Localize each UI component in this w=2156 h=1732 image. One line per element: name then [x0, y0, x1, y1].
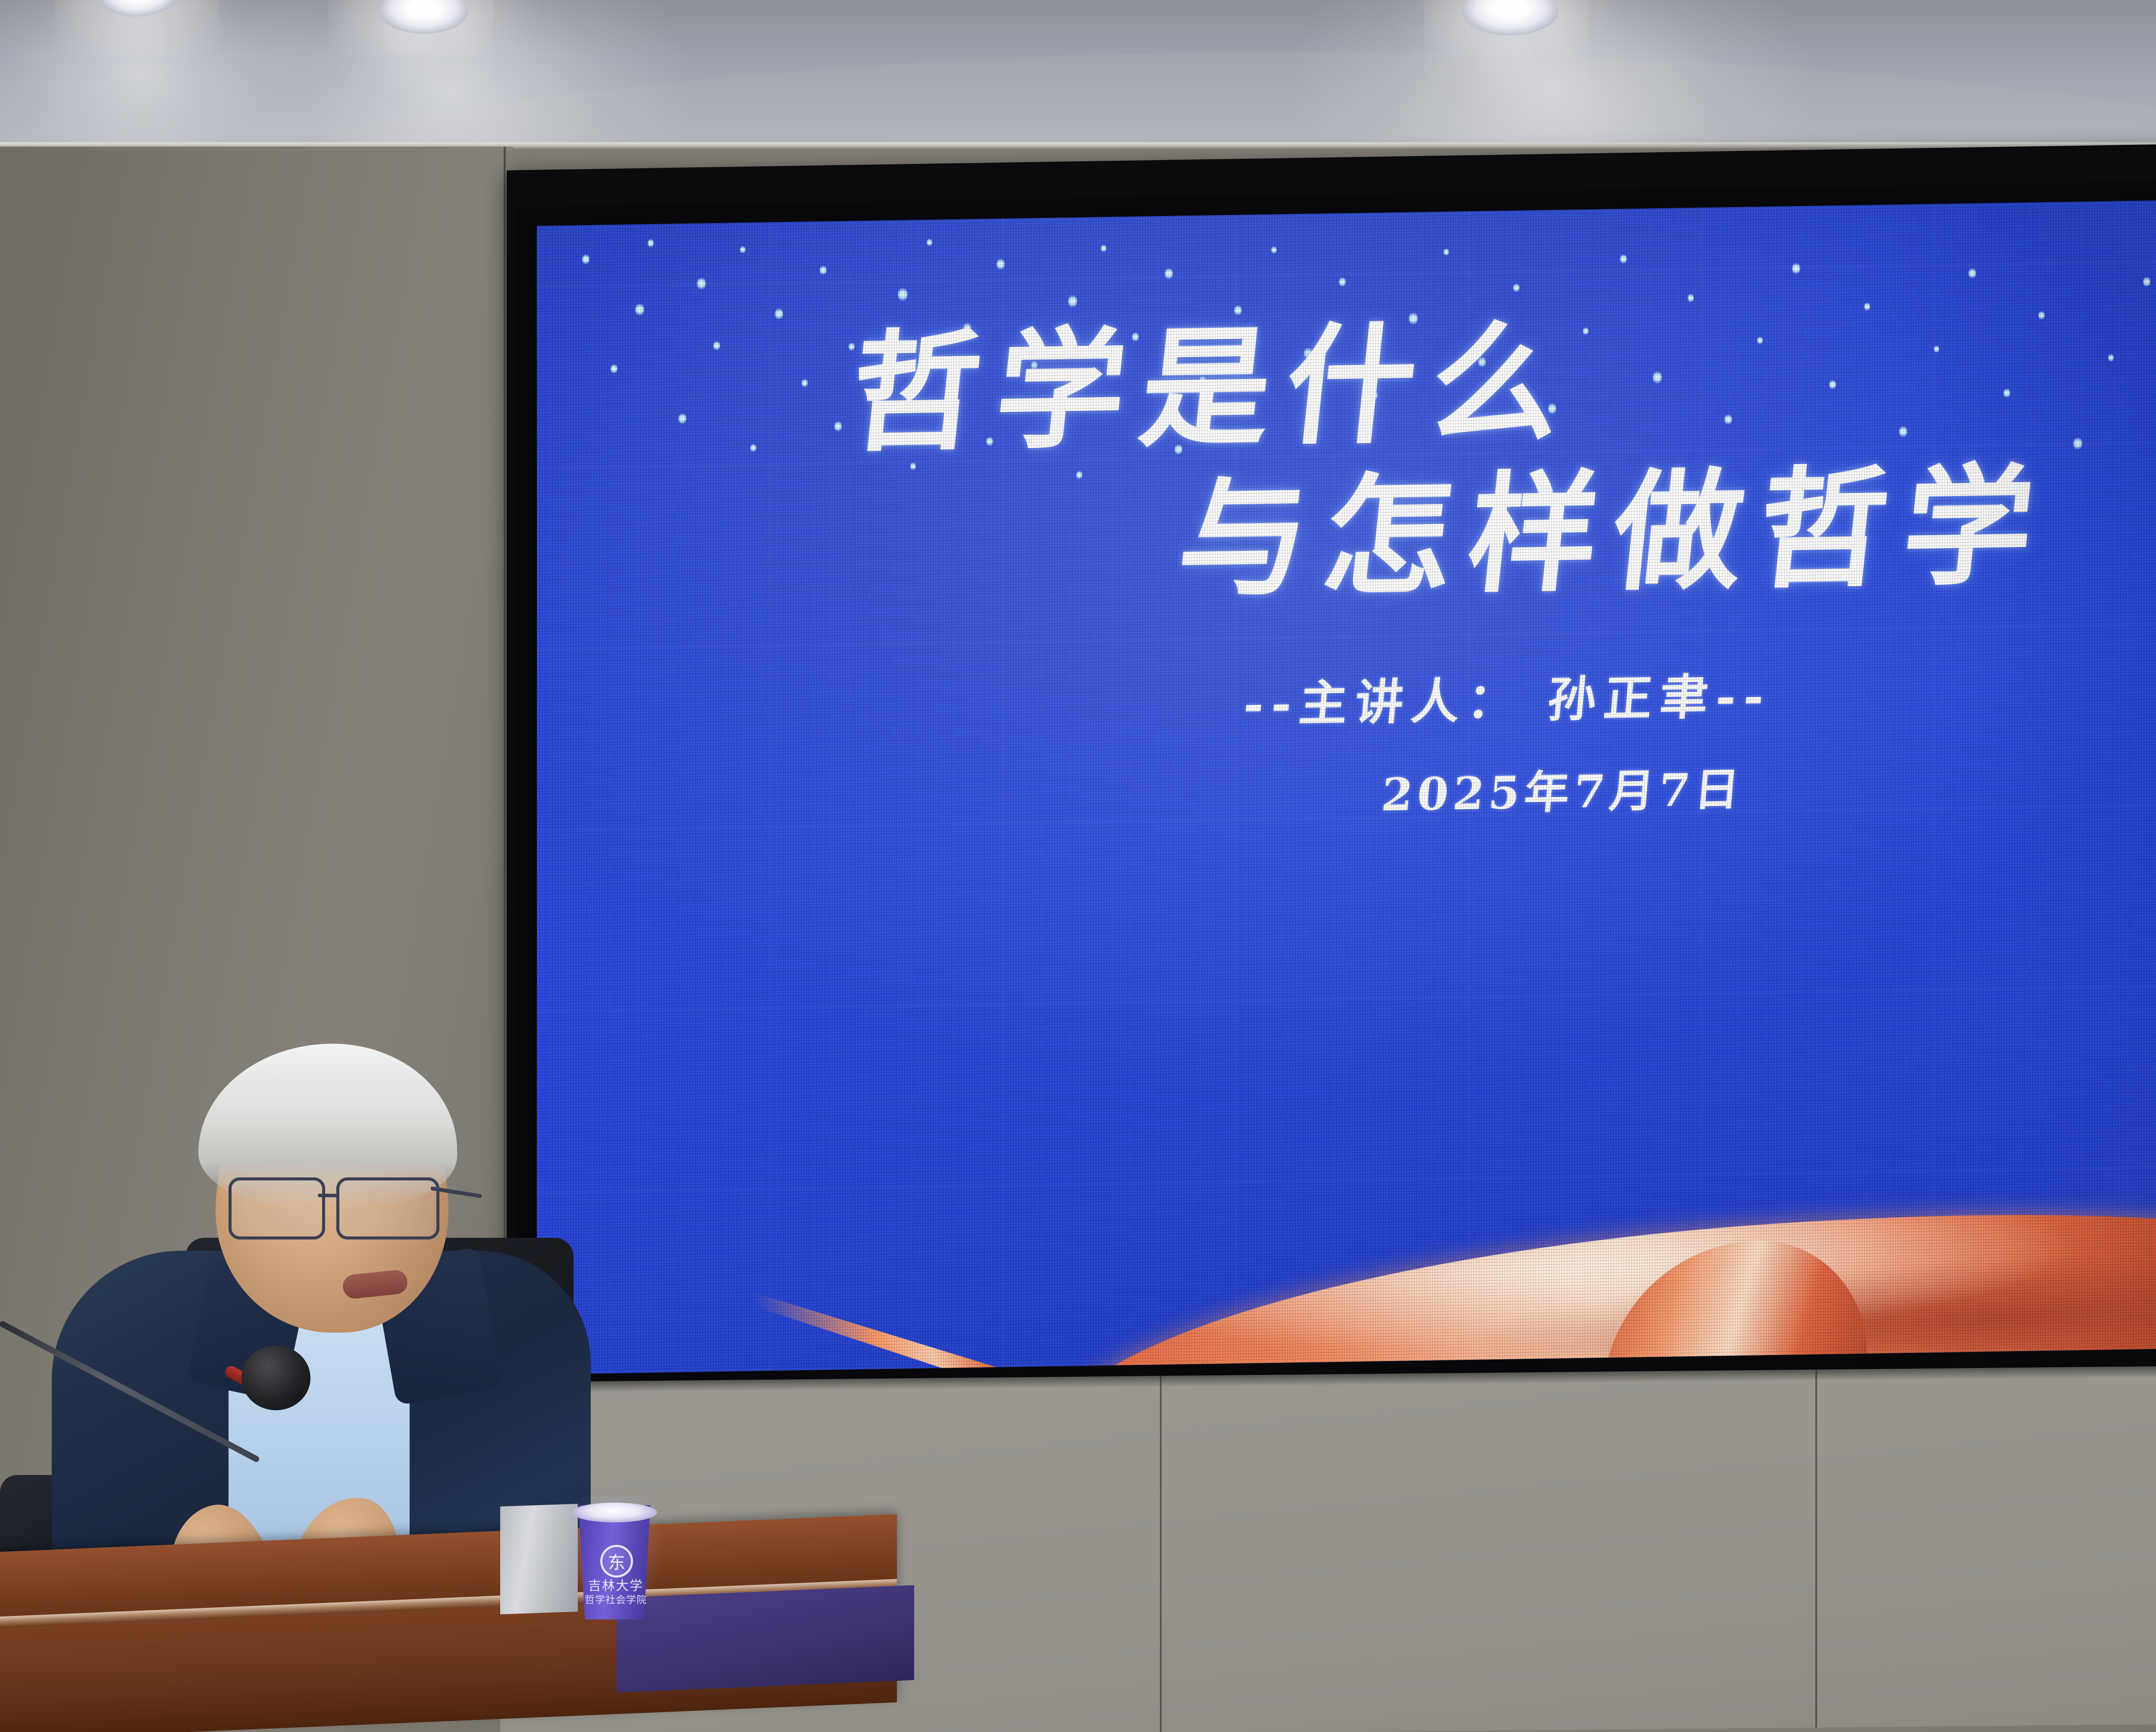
- led-screen: 哲学是什么 与怎样做哲学 --主讲人： 孙正聿-- 2025年7月7日: [507, 138, 2156, 1423]
- slide-date-line: 2025年7月7日: [1379, 753, 1747, 823]
- star-particle: [1829, 379, 1836, 389]
- led-panel-seams: [537, 194, 2156, 1374]
- silk-ribbon-strand: [567, 1237, 1050, 1374]
- star-particle: [2003, 388, 2010, 398]
- star-particle: [635, 303, 644, 317]
- star-particle: [1271, 246, 1277, 254]
- cup-rim: [572, 1503, 657, 1522]
- star-particle: [1444, 248, 1449, 256]
- star-particle: [1165, 267, 1173, 280]
- star-particle: [1757, 336, 1763, 345]
- star-particle: [2038, 311, 2044, 320]
- emblem-glyph: 东: [602, 1547, 631, 1575]
- star-particle: [1620, 254, 1627, 264]
- star-particle: [1548, 402, 1556, 415]
- desk-purple-panel: [617, 1585, 914, 1693]
- star-particle: [849, 342, 855, 351]
- star-particle: [986, 436, 993, 446]
- star-particle: [1968, 267, 1976, 279]
- star-particle: [582, 254, 590, 265]
- star-particle: [1478, 356, 1486, 368]
- star-particle: [678, 412, 686, 425]
- star-particle: [1583, 327, 1589, 335]
- star-particle: [910, 462, 916, 470]
- star-particle: [802, 378, 808, 388]
- slide-presenter-line: --主讲人： 孙正聿--: [1241, 657, 1775, 735]
- lens-right: [336, 1177, 439, 1239]
- star-particle: [1132, 332, 1139, 342]
- star-particle: [997, 258, 1005, 270]
- star-particle: [2143, 276, 2151, 288]
- lecture-hall-photo: 哲学是什么 与怎样做哲学 --主讲人： 孙正聿-- 2025年7月7日: [0, 0, 2156, 1732]
- star-particle: [1304, 347, 1312, 359]
- university-emblem-icon: 东: [600, 1545, 633, 1578]
- star-particle: [1934, 345, 1940, 353]
- star-particle: [1339, 276, 1346, 287]
- panel-seam: [1160, 1376, 1162, 1732]
- star-particle: [2073, 436, 2082, 450]
- star-particle: [740, 245, 746, 254]
- star-particle: [873, 398, 881, 411]
- star-particle: [963, 322, 971, 334]
- star-particle: [1899, 425, 1907, 438]
- slide-content: 哲学是什么 与怎样做哲学 --主讲人： 孙正聿-- 2025年7月7日: [537, 194, 2156, 1374]
- microphone-icon: [241, 1346, 310, 1410]
- silk-ribbon-fold: [1590, 1230, 1870, 1374]
- star-particle: [648, 238, 654, 248]
- star-particle: [1653, 370, 1662, 384]
- star-particle: [2108, 354, 2114, 362]
- star-particle: [1200, 376, 1206, 385]
- lens-left: [229, 1177, 325, 1239]
- star-particle: [1076, 470, 1082, 480]
- star-particle: [611, 364, 617, 374]
- star-particle: [1101, 244, 1106, 252]
- nameplate-stand: [500, 1504, 578, 1614]
- panel-seam: [1815, 1370, 1817, 1728]
- star-particle: [1031, 361, 1037, 370]
- star-particle: [775, 307, 783, 320]
- star-particle: [697, 277, 706, 291]
- silk-ribbon-main: [1037, 1186, 2156, 1374]
- star-particle: [898, 287, 907, 302]
- eyeglasses-icon: [229, 1177, 453, 1238]
- star-particle: [713, 341, 720, 351]
- star-particle: [1688, 293, 1694, 303]
- star-particle: [1513, 283, 1519, 293]
- led-pixel-grid: [537, 194, 2156, 1374]
- star-particle: [1372, 391, 1378, 400]
- star-particle: [750, 443, 756, 453]
- star-particle: [1068, 295, 1077, 308]
- star-particle: [1864, 302, 1870, 311]
- star-particle: [1409, 312, 1418, 326]
- slide-title-line-2: 与怎样做哲学: [1172, 461, 2056, 604]
- led-vignette: [537, 194, 2156, 1374]
- slide-title-line-1: 哲学是什么: [845, 317, 1583, 458]
- cup-school-label: 哲学社会学院: [577, 1591, 655, 1606]
- star-particle: [1175, 444, 1182, 455]
- star-particle: [1234, 304, 1242, 316]
- star-particle-field: [537, 194, 2156, 938]
- star-particle: [927, 238, 932, 246]
- star-particle: [1724, 414, 1732, 425]
- star-particle: [834, 420, 842, 432]
- glasses-bridge: [318, 1194, 339, 1197]
- led-display-surface: 哲学是什么 与怎样做哲学 --主讲人： 孙正聿-- 2025年7月7日: [537, 194, 2156, 1374]
- star-particle: [820, 265, 827, 275]
- star-particle: [1792, 262, 1800, 275]
- silk-ribbon-graphic: [537, 1178, 2156, 1374]
